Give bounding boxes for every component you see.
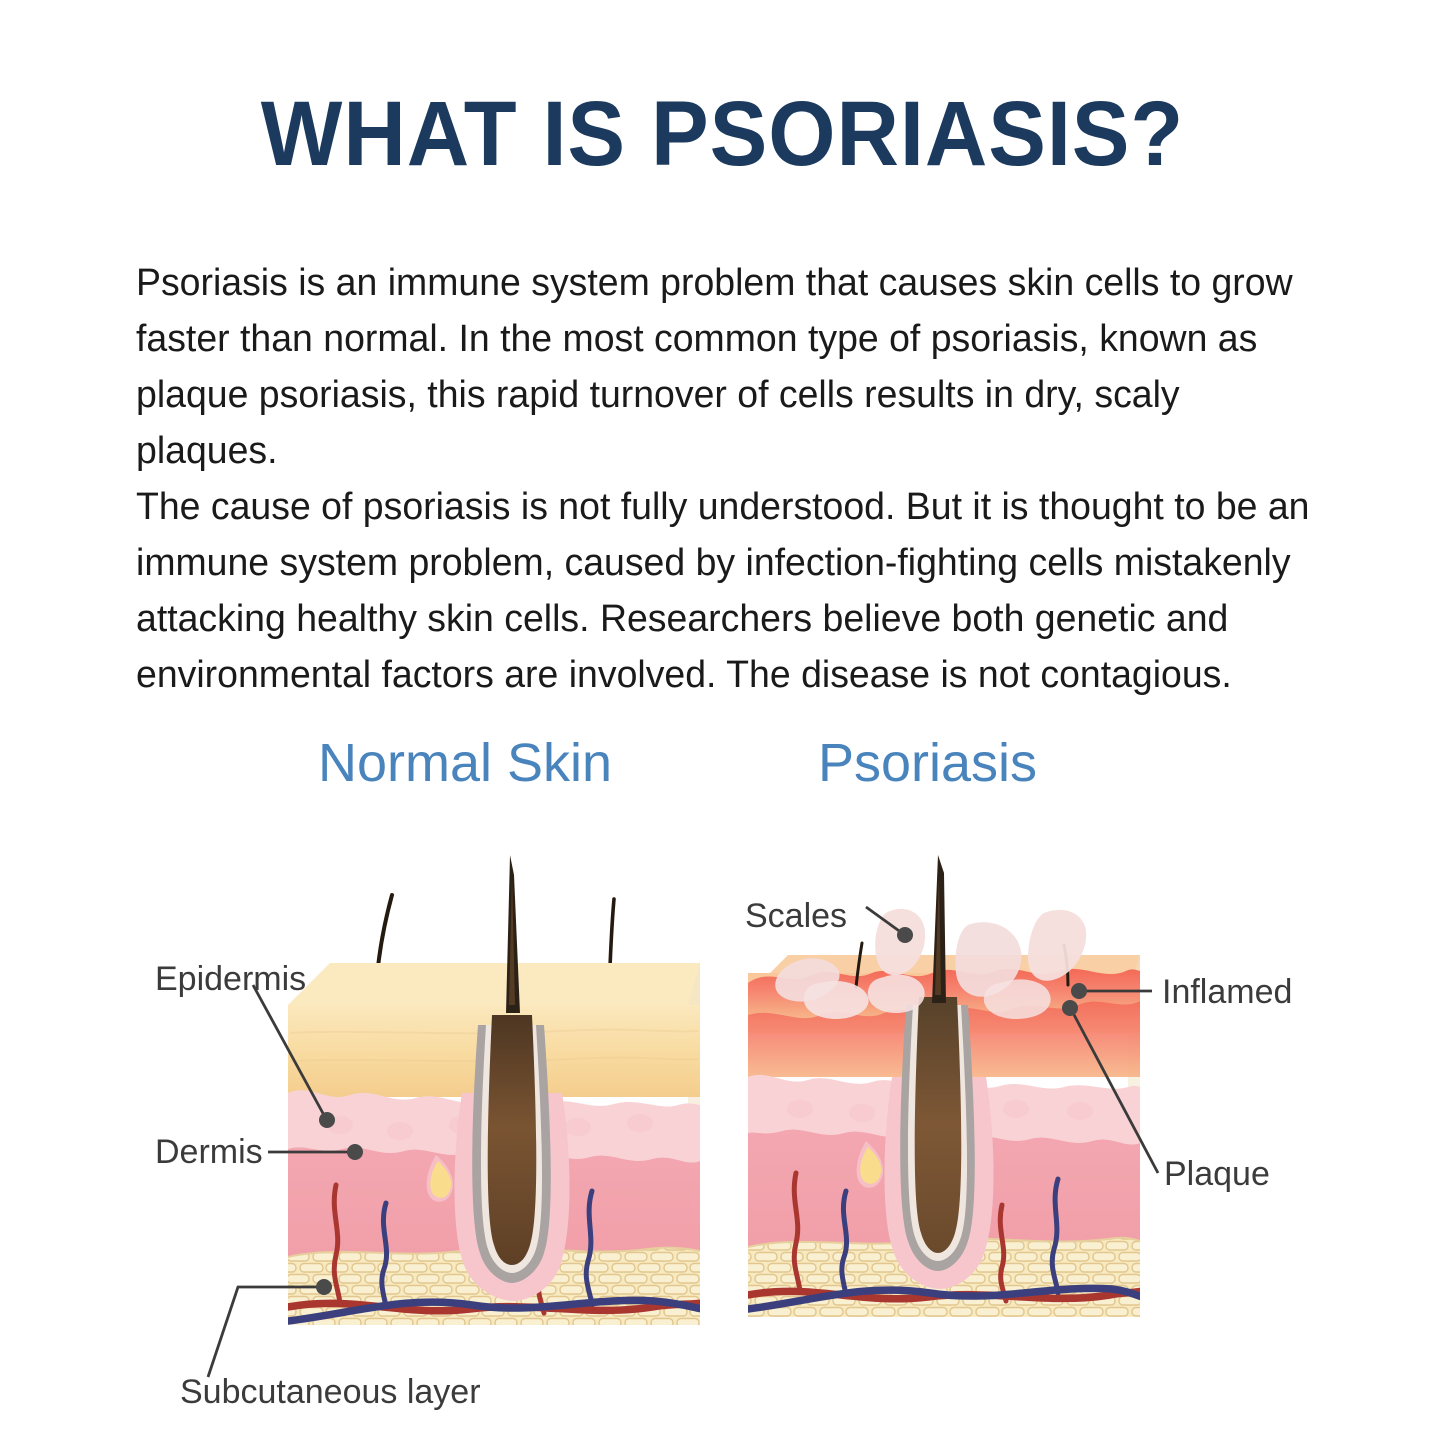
dot-inflamed (1071, 983, 1087, 999)
label-dermis: Dermis (155, 1133, 263, 1171)
dot-plaque (1062, 1000, 1078, 1016)
dot-scales (897, 927, 913, 943)
scale-flake-7 (984, 979, 1051, 1019)
body-copy: Psoriasis is an immune system problem th… (136, 255, 1338, 703)
paragraph-definition: Psoriasis is an immune system problem th… (136, 255, 1320, 479)
dot-subcutaneous (316, 1279, 332, 1295)
heading-psoriasis: Psoriasis (818, 733, 1037, 793)
hair-small-right (610, 899, 614, 967)
label-epidermis: Epidermis (155, 960, 306, 998)
label-plaque: Plaque (1164, 1155, 1270, 1193)
paragraph-cause: The cause of psoriasis is not fully unde… (136, 479, 1320, 703)
epidermis-top-face (288, 963, 700, 1005)
label-subcutaneous-layer: Subcutaneous layer (180, 1373, 481, 1411)
dot-dermis (347, 1144, 363, 1160)
scale-flake-4 (868, 975, 925, 1013)
hair-small-left (378, 895, 392, 967)
label-inflamed: Inflamed (1162, 973, 1292, 1011)
skin-comparison-diagrams: Epidermis Dermis Subcutaneous layer (0, 855, 1445, 1415)
label-scales: Scales (745, 897, 847, 935)
dot-epidermis (319, 1112, 335, 1128)
heading-normal-skin: Normal Skin (318, 733, 612, 793)
page-title: WHAT IS PSORIASIS? (43, 84, 1401, 184)
normal-skin-diagram (286, 855, 702, 1329)
